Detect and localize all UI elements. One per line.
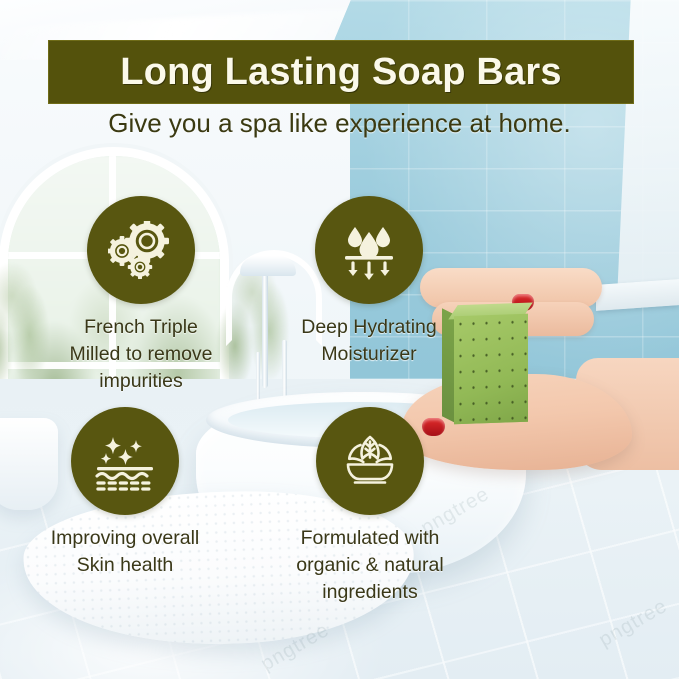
page-title: Long Lasting Soap Bars [120,51,561,94]
feature-label: Formulated with organic & natural ingred… [256,525,484,606]
feature-label-line: ingredients [256,579,484,606]
product-infographic: pngtree pngtree pngtree Long Lasting Soa… [0,0,679,679]
feature-label-line: Improving overall [20,525,230,552]
feature-label-line: Formulated with [256,525,484,552]
gears-icon [87,196,195,304]
feature-deep-hydrating-moisturizer: Deep Hydrating Moisturizer [264,196,474,395]
feature-grid: French Triple Milled to remove impuritie… [0,196,679,606]
title-banner: Long Lasting Soap Bars [48,40,634,104]
feature-label-line: Moisturizer [264,341,474,368]
sparkling-skin-layers-icon [71,407,179,515]
feature-row-1: French Triple Milled to remove impuritie… [0,196,679,395]
feature-label-line: Skin health [20,552,230,579]
feature-label: Improving overall Skin health [20,525,230,579]
feature-french-triple-milled: French Triple Milled to remove impuritie… [36,196,246,395]
herbal-bowl-icon [316,407,424,515]
feature-label: French Triple Milled to remove impuritie… [36,314,246,395]
page-subtitle: Give you a spa like experience at home. [0,108,679,139]
feature-label-line: Milled to remove [36,341,246,368]
feature-improving-skin-health: Improving overall Skin health [20,407,230,606]
feature-organic-natural-ingredients: Formulated with organic & natural ingred… [256,407,484,606]
feature-row-2: Improving overall Skin health [0,407,679,606]
feature-label-line: organic & natural [256,552,484,579]
feature-label-line: Deep Hydrating [264,314,474,341]
feature-label-line: impurities [36,368,246,395]
feature-label: Deep Hydrating Moisturizer [264,314,474,368]
water-drops-absorption-icon [315,196,423,304]
feature-label-line: French Triple [36,314,246,341]
overlay-content: Long Lasting Soap Bars Give you a spa li… [0,0,679,679]
